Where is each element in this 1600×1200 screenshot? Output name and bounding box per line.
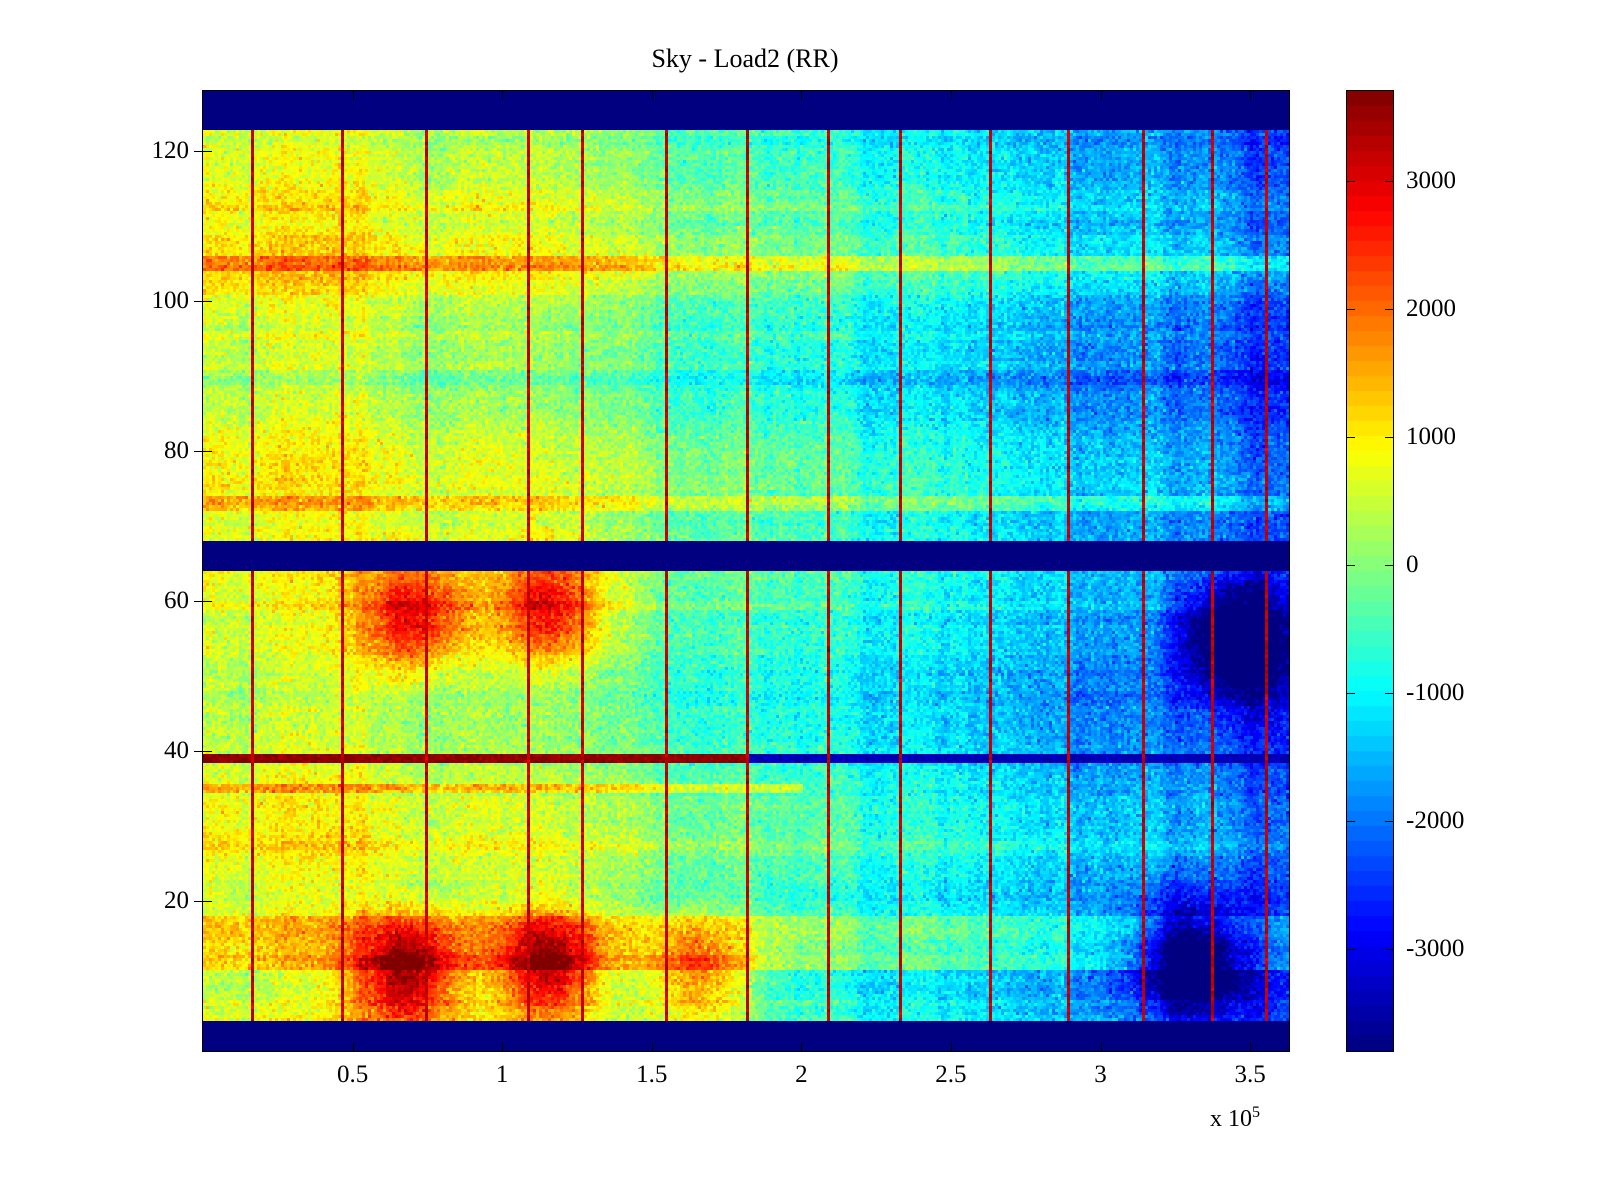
colorbar-tick-mark-left [1347, 693, 1355, 694]
colorbar-tick-label: -3000 [1406, 935, 1464, 963]
x-axis-exponent-label: x 105 [1210, 1104, 1260, 1133]
x-tick-label: 3.5 [1234, 1061, 1265, 1089]
y-tick-label: 40 [164, 737, 189, 765]
x-tick-label: 2.5 [935, 1061, 966, 1089]
heatmap-image[interactable] [203, 91, 1289, 1051]
x-tick-mark-top [502, 91, 503, 100]
x-tick-mark-top [353, 91, 354, 100]
colorbar-tick-mark-right [1385, 565, 1393, 566]
colorbar-tick-mark-right [1385, 693, 1393, 694]
colorbar[interactable]: 3000200010000-1000-2000-3000 [1346, 90, 1394, 1052]
y-tick-label: 60 [164, 587, 189, 615]
colorbar-tick-mark-left [1347, 309, 1355, 310]
colorbar-tick-mark-right [1385, 309, 1393, 310]
colorbar-tick-label: 0 [1406, 551, 1419, 579]
colorbar-tick-mark-right [1385, 437, 1393, 438]
colorbar-tick-mark-right [1385, 181, 1393, 182]
colorbar-tick-mark-left [1347, 437, 1355, 438]
x-exponent-base: x 10 [1210, 1106, 1252, 1132]
colorbar-tick-mark-left [1347, 181, 1355, 182]
x-tick-mark [353, 1042, 354, 1051]
y-tick-mark-inner [203, 601, 212, 602]
colorbar-tick-mark-right [1385, 949, 1393, 950]
x-tick-mark [652, 1042, 653, 1051]
figure-canvas: Sky - Load2 (RR) 20406080100120 0.511.52… [0, 0, 1600, 1200]
colorbar-tick-label: 3000 [1406, 167, 1456, 195]
x-tick-mark [951, 1042, 952, 1051]
y-tick-label: 120 [152, 137, 190, 165]
colorbar-tick-mark-left [1347, 565, 1355, 566]
x-tick-mark [1101, 1042, 1102, 1051]
y-tick-mark-inner [203, 151, 212, 152]
y-tick-mark [194, 901, 203, 902]
x-tick-mark-top [951, 91, 952, 100]
colorbar-tick-label: -2000 [1406, 807, 1464, 835]
y-tick-mark [194, 601, 203, 602]
colorbar-gradient [1347, 91, 1393, 1051]
page-title: Sky - Load2 (RR) [202, 44, 1288, 74]
x-tick-label: 2 [795, 1061, 808, 1089]
x-tick-label: 0.5 [337, 1061, 368, 1089]
x-tick-label: 3 [1094, 1061, 1107, 1089]
y-tick-mark [194, 751, 203, 752]
x-tick-mark [1250, 1042, 1251, 1051]
y-tick-mark-inner [203, 751, 212, 752]
y-tick-label: 100 [152, 287, 190, 315]
x-tick-mark-top [1101, 91, 1102, 100]
y-tick-mark [194, 151, 203, 152]
main-heatmap-axes[interactable]: 20406080100120 0.511.522.533.5 [202, 90, 1290, 1052]
x-tick-mark [801, 1042, 802, 1051]
colorbar-tick-mark-left [1347, 949, 1355, 950]
y-tick-mark-inner [203, 451, 212, 452]
x-tick-mark-top [801, 91, 802, 100]
colorbar-tick-label: -1000 [1406, 679, 1464, 707]
y-tick-mark [194, 301, 203, 302]
x-tick-mark-top [652, 91, 653, 100]
y-tick-mark-inner [203, 301, 212, 302]
y-tick-mark-inner [203, 901, 212, 902]
x-tick-label: 1 [496, 1061, 509, 1089]
colorbar-tick-mark-right [1385, 821, 1393, 822]
x-tick-label: 1.5 [636, 1061, 667, 1089]
x-tick-mark [502, 1042, 503, 1051]
x-exponent-power: 5 [1252, 1104, 1260, 1121]
colorbar-tick-mark-left [1347, 821, 1355, 822]
y-tick-label: 80 [164, 437, 189, 465]
colorbar-tick-label: 2000 [1406, 295, 1456, 323]
y-tick-mark [194, 451, 203, 452]
x-tick-mark-top [1250, 91, 1251, 100]
colorbar-tick-label: 1000 [1406, 423, 1456, 451]
y-tick-label: 20 [164, 887, 189, 915]
